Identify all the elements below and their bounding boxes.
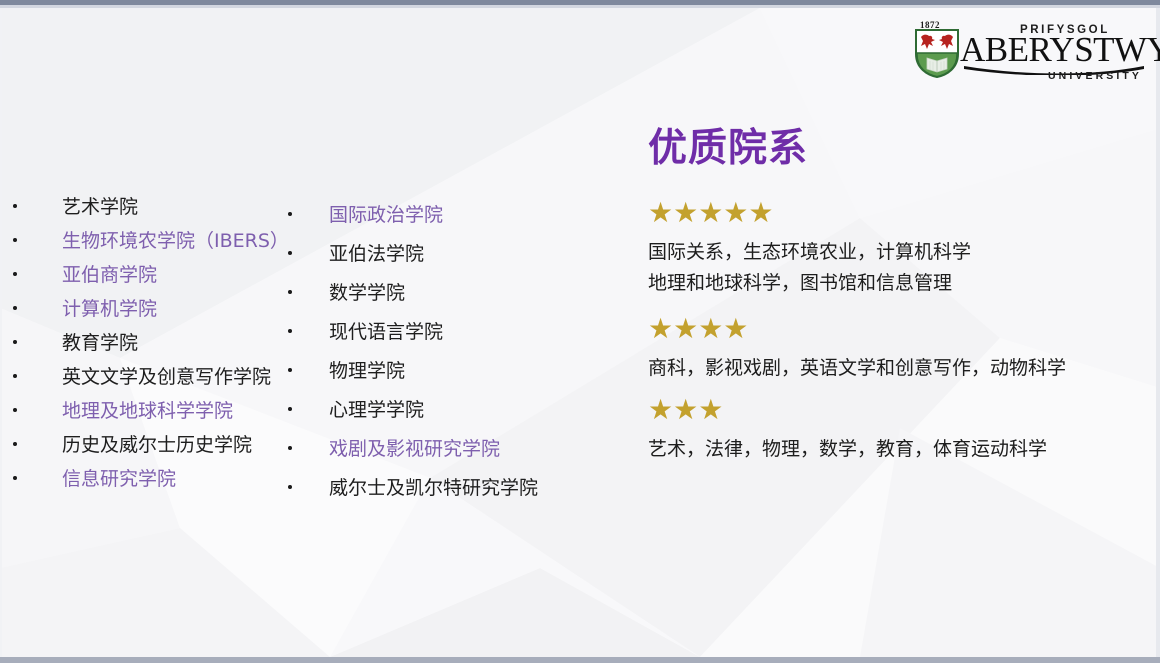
bullet-icon [288,329,292,333]
list-item: 亚伯商学院 [0,260,289,294]
bullet-icon [13,272,17,276]
faculty-list-column-1: 艺术学院 生物环境农学院（IBERS） 亚伯商学院 计算机学院 教育学院 英文文… [0,192,289,498]
bullet-icon [13,374,17,378]
list-item: 国际政治学院 [276,200,538,239]
faculty-label: 艺术学院 [62,192,138,219]
star-rating: ★★★ [648,394,1148,426]
list-item: 艺术学院 [0,192,289,226]
list-item: 戏剧及影视研究学院 [276,434,538,473]
faculty-label: 亚伯商学院 [62,260,157,287]
aberystwyth-university-logo: 1872 PRIFYSGOL ABERYSTWYTH UNIVERSITY [908,20,1144,82]
slide-canvas: 1872 PRIFYSGOL ABERYSTWYTH UNIVERSITY 艺术… [0,0,1160,663]
list-item: 亚伯法学院 [276,239,538,278]
list-item: 历史及威尔士历史学院 [0,430,289,464]
bullet-icon [13,238,17,242]
bullet-icon [288,485,292,489]
faculty-label: 计算机学院 [62,294,157,321]
page-title: 优质院系 [648,125,1148,173]
list-item: 地理及地球科学学院 [0,396,289,430]
faculty-label: 信息研究学院 [62,464,176,491]
list-item: 计算机学院 [0,294,289,328]
list-item: 数学学院 [276,278,538,317]
faculty-label: 生物环境农学院（IBERS） [62,226,289,253]
rating-description-line: 艺术，法律，物理，数学，教育，体育运动科学 [648,434,1148,465]
list-item: 物理学院 [276,356,538,395]
bullet-icon [13,408,17,412]
window-top-bar-shadow [0,5,1160,8]
rating-group-4-star: ★★★★ 商科，影视戏剧，英语文学和创意写作，动物科学 [648,313,1148,384]
rating-description-line: 地理和地球科学，图书馆和信息管理 [648,268,1148,299]
faculty-label: 英文文学及创意写作学院 [62,362,271,389]
rating-group-5-star: ★★★★★ 国际关系，生态环境农业，计算机科学 地理和地球科学，图书馆和信息管理 [648,197,1148,299]
faculty-label: 威尔士及凯尔特研究学院 [329,473,538,500]
bullet-icon [13,340,17,344]
logo-university-text: UNIVERSITY [1048,70,1142,82]
slide-right-edge [1156,8,1160,657]
faculty-label: 国际政治学院 [329,200,443,227]
bullet-icon [288,251,292,255]
rating-description-line: 商科，影视戏剧，英语文学和创意写作，动物科学 [648,353,1148,384]
rating-description-line: 国际关系，生态环境农业，计算机科学 [648,237,1148,268]
rating-group-3-star: ★★★ 艺术，法律，物理，数学，教育，体育运动科学 [648,394,1148,465]
bullet-icon [13,306,17,310]
list-item: 生物环境农学院（IBERS） [0,226,289,260]
list-item: 信息研究学院 [0,464,289,498]
faculty-label: 亚伯法学院 [329,239,424,266]
list-item: 现代语言学院 [276,317,538,356]
university-crest-icon [914,28,960,78]
list-item: 心理学学院 [276,395,538,434]
logo-name-text: ABERYSTWYTH [960,32,1160,67]
bullet-icon [288,212,292,216]
faculty-label: 心理学学院 [329,395,424,422]
bullet-icon [288,368,292,372]
bullet-icon [13,442,17,446]
bullet-icon [13,476,17,480]
faculty-label: 戏剧及影视研究学院 [329,434,500,461]
faculty-label: 历史及威尔士历史学院 [62,430,252,457]
faculty-label: 数学学院 [329,278,405,305]
faculty-label: 现代语言学院 [329,317,443,344]
list-item: 英文文学及创意写作学院 [0,362,289,396]
window-bottom-bar [0,657,1160,663]
faculty-label: 地理及地球科学学院 [62,396,233,423]
bullet-icon [288,446,292,450]
faculty-label: 物理学院 [329,356,405,383]
bullet-icon [288,290,292,294]
bullet-icon [13,204,17,208]
quality-faculties-panel: 优质院系 ★★★★★ 国际关系，生态环境农业，计算机科学 地理和地球科学，图书馆… [648,125,1148,465]
faculty-list-column-2: 国际政治学院 亚伯法学院 数学学院 现代语言学院 物理学院 心理学学院 戏剧及影… [276,200,538,512]
list-item: 威尔士及凯尔特研究学院 [276,473,538,512]
list-item: 教育学院 [0,328,289,362]
star-rating: ★★★★ [648,313,1148,345]
star-rating: ★★★★★ [648,197,1148,229]
bullet-icon [288,407,292,411]
faculty-label: 教育学院 [62,328,138,355]
